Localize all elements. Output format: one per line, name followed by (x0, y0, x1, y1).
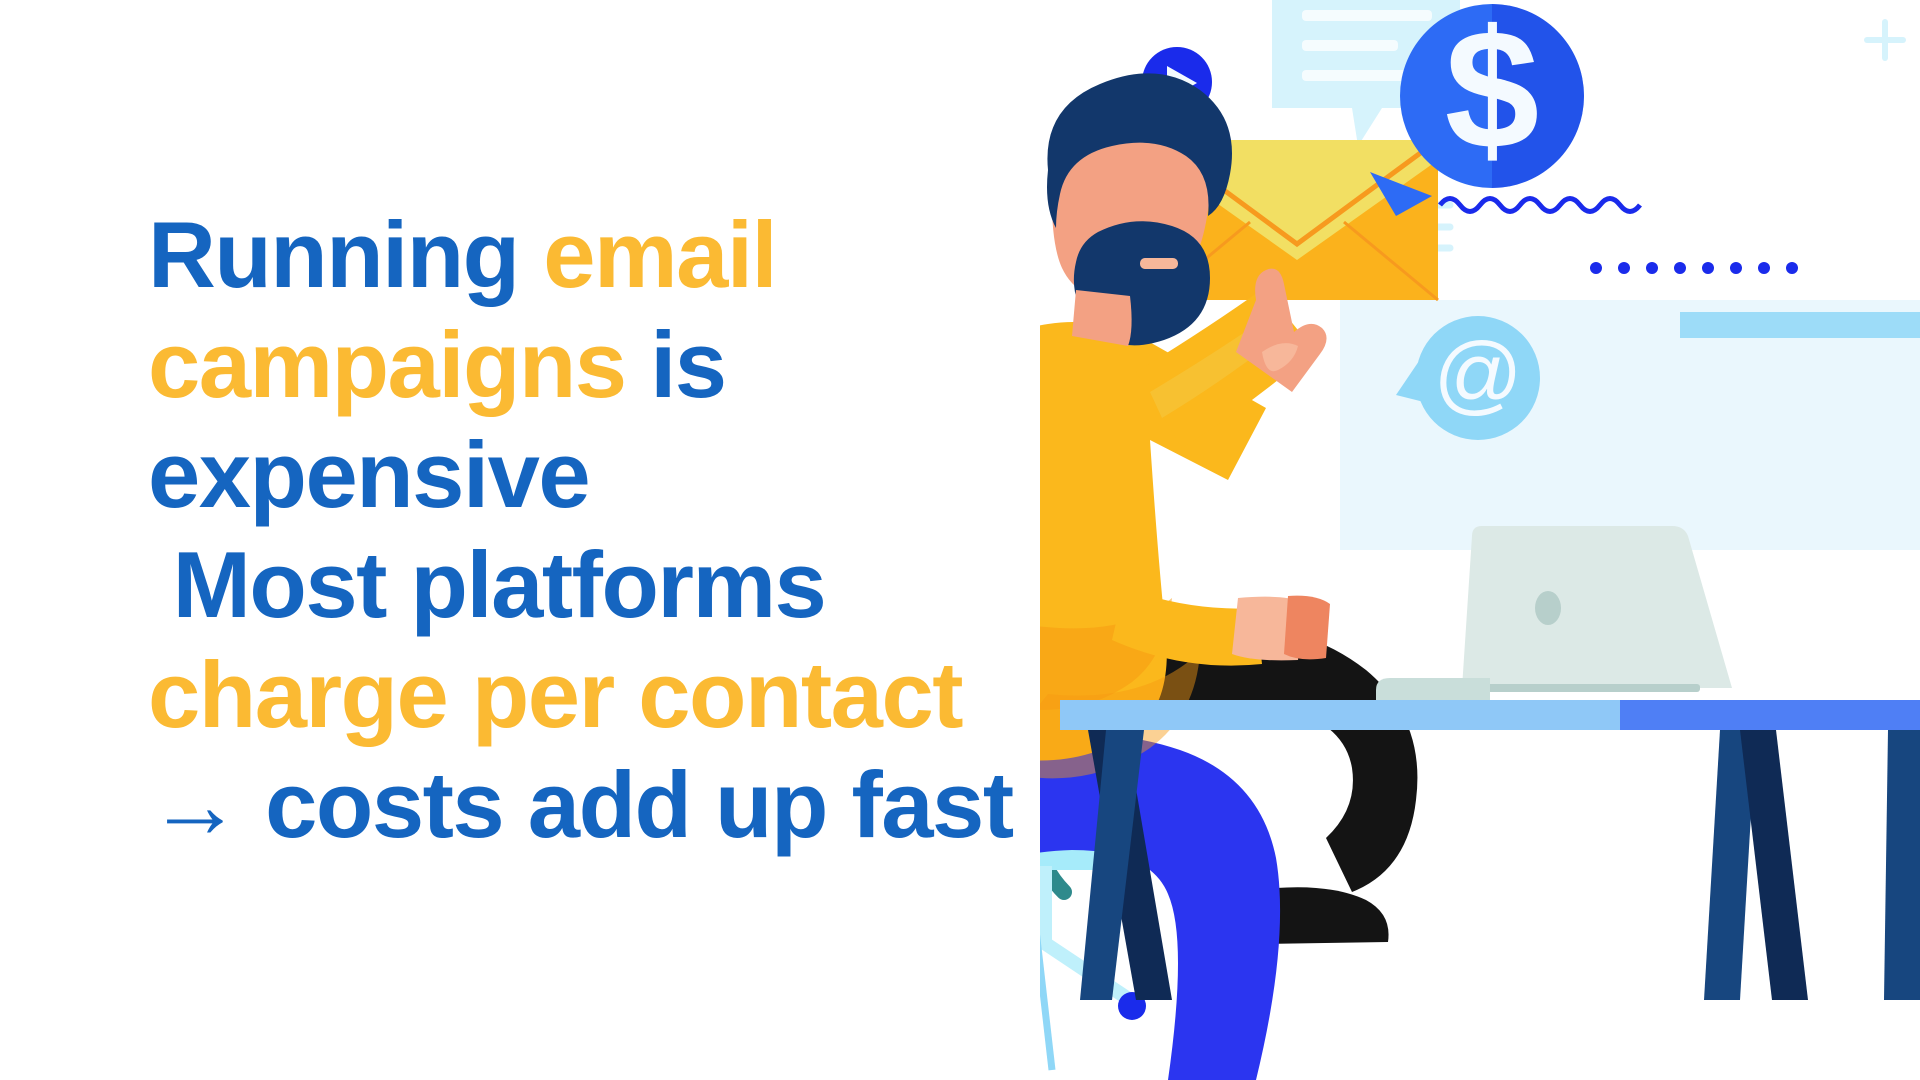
headline-span-is: is (650, 312, 725, 417)
svg-text:@: @ (1433, 324, 1522, 423)
headline-span-charge-per-contact: charge per contact (148, 642, 962, 747)
illustration: @ $ (1040, 0, 1920, 1080)
dotted-line-decoration (1590, 262, 1798, 274)
headline-span-most-platforms: Most platforms (148, 532, 825, 637)
headline-line-5: charge per contact (148, 640, 1078, 750)
headline-span-expensive: expensive (148, 422, 589, 527)
svg-text:$: $ (1445, 0, 1540, 185)
whiteboard (1340, 300, 1920, 550)
headline-line-4: Most platforms (148, 530, 1078, 640)
headline-span-running: Running (148, 202, 543, 307)
laptop-icon (1376, 526, 1732, 700)
headline-line-1: Running email (148, 200, 1078, 310)
slide-canvas: Running email campaigns is expensive Mos… (0, 0, 1920, 1080)
headline-span-costs-add-up-fast: → costs add up fast (148, 752, 1013, 857)
headline-line-3: expensive (148, 420, 1078, 530)
plus-decoration (1867, 22, 1903, 58)
headline-span-email: email (543, 202, 776, 307)
headline-block: Running email campaigns is expensive Mos… (148, 200, 1078, 860)
headline-line-6: → costs add up fast (148, 750, 1078, 860)
headline-line-2: campaigns is (148, 310, 1078, 420)
headline-span-campaigns: campaigns (148, 312, 650, 417)
squiggle-decoration (1440, 199, 1640, 212)
